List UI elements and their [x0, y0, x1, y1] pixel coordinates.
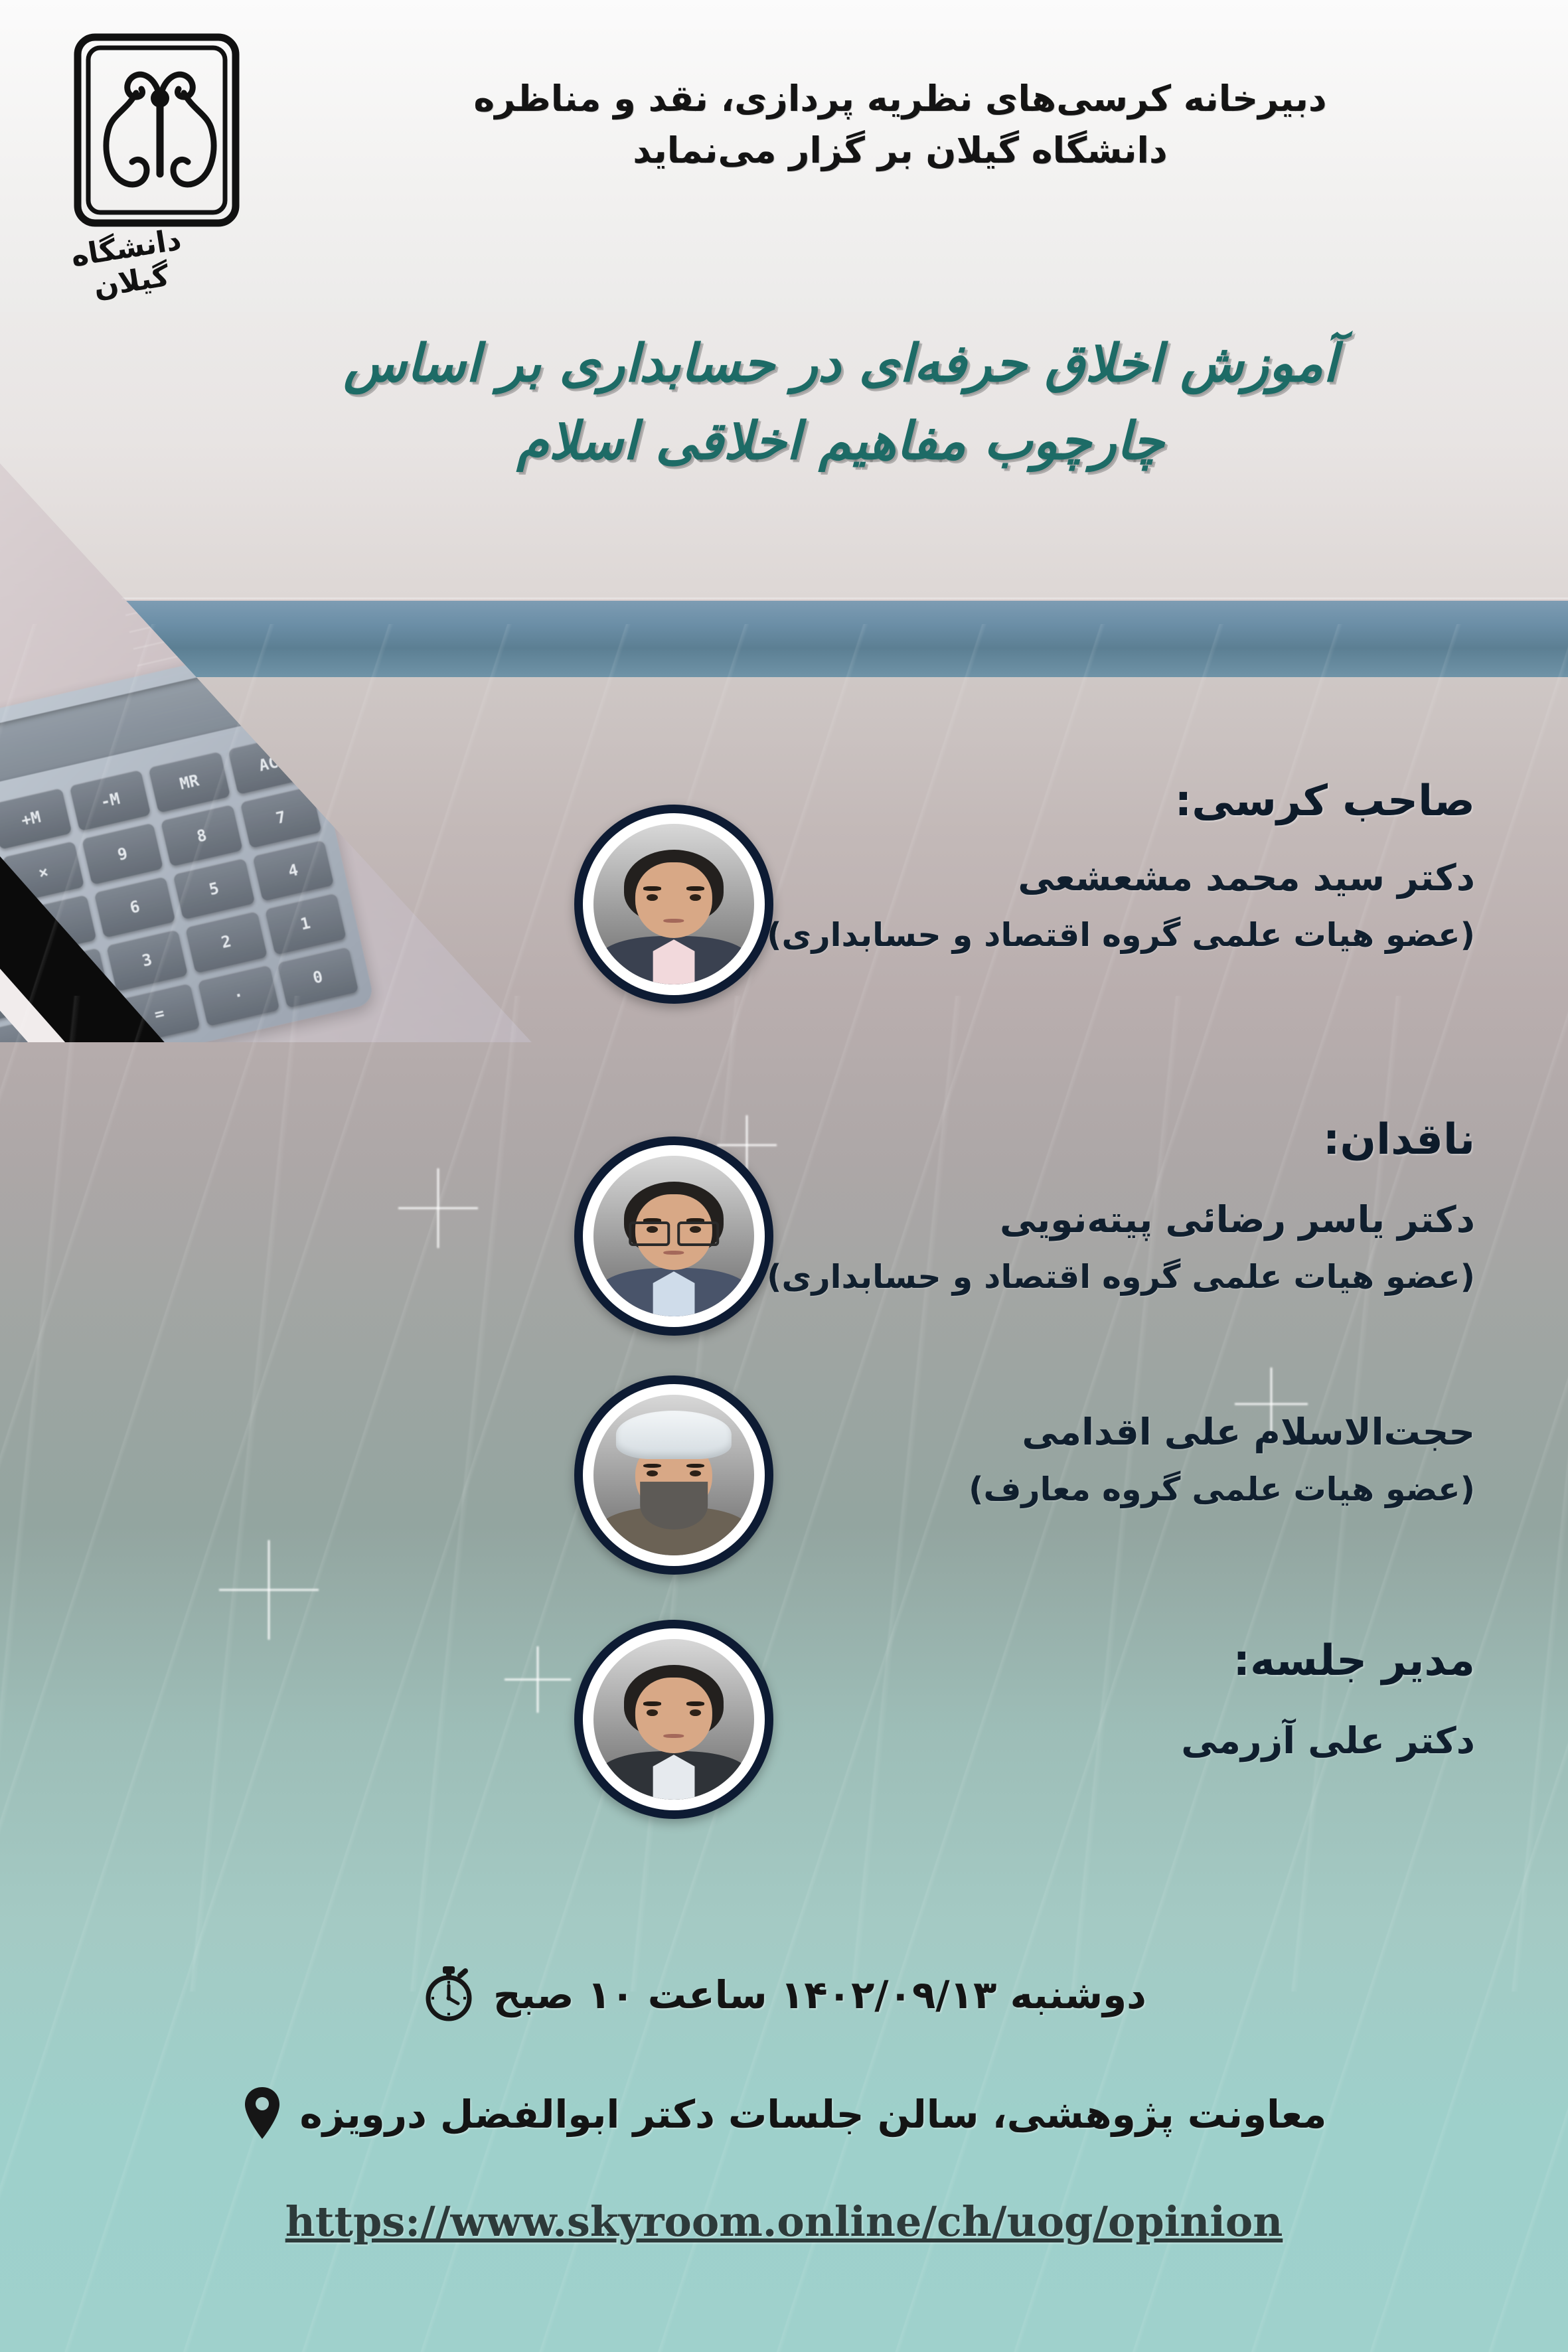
event-datetime: دوشنبه ۱۴۰۲/۰۹/۱۳ ساعت ۱۰ صبح — [493, 1972, 1146, 2017]
portrait-mohammad-moshashaei — [593, 824, 754, 984]
person-name-moderator: دکتر علی آزرمی — [1181, 1719, 1475, 1762]
avatar-critic-1 — [574, 1137, 773, 1336]
portrait-ali-azarmi — [593, 1639, 754, 1800]
event-link[interactable]: https://www.skyroom.online/ch/uog/opinio… — [0, 2197, 1568, 2246]
event-location: معاونت پژوهشی، سالن جلسات دکتر ابوالفضل … — [300, 2092, 1327, 2137]
portrait-ali-eqdami — [593, 1395, 754, 1555]
avatar-ring-inner — [583, 813, 765, 995]
role-heading-critics: ناقدان: — [1323, 1115, 1475, 1164]
role-heading-chair: صاحب کرسی: — [1175, 777, 1475, 826]
role-heading-moderator: مدیر جلسه: — [1233, 1636, 1476, 1686]
person-name-chair: دکتر سید محمد مشعشعی — [1018, 856, 1475, 899]
event-poster: دانشگاه گیلان دبیرخانه کرسی‌های نظریه پر… — [0, 0, 1568, 2352]
avatar-chair — [574, 805, 773, 1004]
person-affiliation-critic-2: (عضو هیات علمی گروه معارف) — [969, 1470, 1475, 1508]
avatar-ring-inner — [583, 1628, 765, 1810]
map-pin-icon — [242, 2084, 283, 2144]
header-text-block: دبیرخانه کرسی‌های نظریه پردازی، نقد و من… — [285, 73, 1515, 177]
avatar-ring-inner — [583, 1384, 765, 1566]
eyeglasses-icon — [629, 1221, 719, 1241]
datetime-row: دوشنبه ۱۴۰۲/۰۹/۱۳ ساعت ۱۰ صبح — [0, 1965, 1568, 2025]
poster-footer: دوشنبه ۱۴۰۲/۰۹/۱۳ ساعت ۱۰ صبح معاونت پژو… — [0, 1885, 1568, 2352]
person-affiliation-critic-1: (عضو هیات علمی گروه اقتصاد و حسابداری) — [767, 1258, 1475, 1296]
location-row: معاونت پژوهشی، سالن جلسات دکتر ابوالفضل … — [0, 2084, 1568, 2144]
portrait-yaser-rezaei-pitenoei — [593, 1156, 754, 1316]
person-affiliation-chair: (عضو هیات علمی گروه اقتصاد و حسابداری) — [767, 916, 1475, 954]
header-line-2: دانشگاه گیلان بر گزار می‌نماید — [285, 125, 1515, 177]
participants-section: صاحب کرسی: دکتر سید محمد مشعشعی (عضو هیا… — [0, 690, 1568, 1859]
university-of-gilan-emblem-icon — [71, 32, 249, 231]
avatar-moderator — [574, 1620, 773, 1819]
turban-icon — [616, 1411, 732, 1459]
university-logo: دانشگاه گیلان — [37, 32, 249, 311]
poster-header: دانشگاه گیلان دبیرخانه کرسی‌های نظریه پر… — [0, 0, 1568, 312]
university-logo-caption: دانشگاه گیلان — [42, 218, 216, 311]
avatar-critic-2 — [574, 1375, 773, 1575]
header-line-1: دبیرخانه کرسی‌های نظریه پردازی، نقد و من… — [285, 73, 1515, 125]
person-name-critic-1: دکتر یاسر رضائی پیته‌نویی — [1000, 1198, 1475, 1241]
avatar-ring-inner — [583, 1145, 765, 1327]
person-name-critic-2: حجت‌الاسلام علی اقدامی — [1022, 1411, 1475, 1453]
stopwatch-icon — [422, 1965, 476, 2025]
